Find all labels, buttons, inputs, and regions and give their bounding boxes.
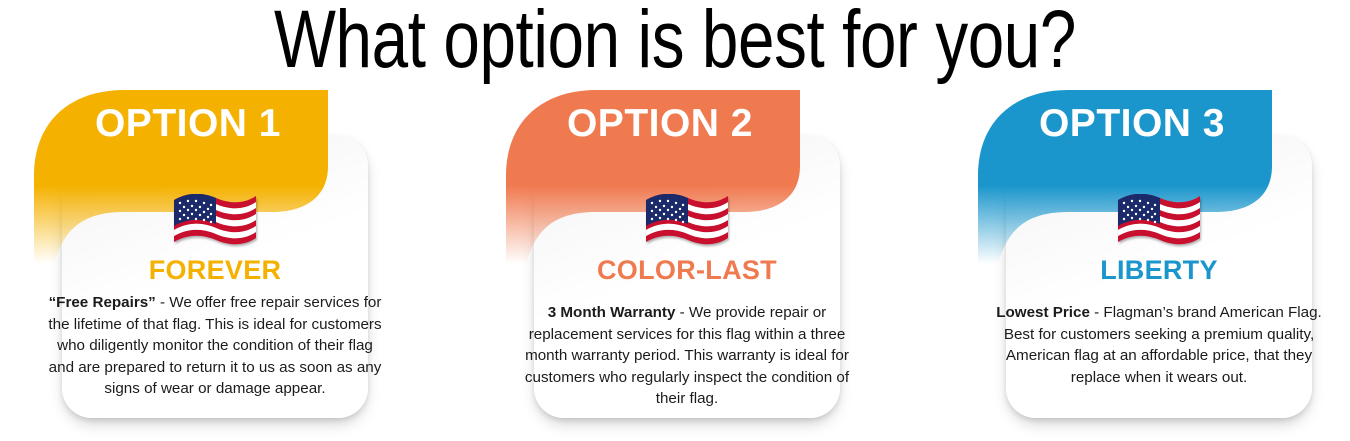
option-description: Lowest Price - Flagman’s brand American … <box>992 302 1326 388</box>
usa-flag-icon <box>1006 194 1312 255</box>
product-name: FOREVER <box>62 254 368 286</box>
options-row: OPTION 1 <box>0 88 1350 441</box>
description-lead: “Free Repairs” <box>49 294 156 311</box>
product-name: COLOR-LAST <box>534 254 840 286</box>
usa-flag-icon <box>534 194 840 255</box>
page-title: What option is best for you? <box>135 0 1215 86</box>
banner-label: OPTION 2 <box>500 102 820 146</box>
option-card-3[interactable]: OPTION 3 <box>972 88 1312 428</box>
option-description: 3 Month Warranty - We provide repair or … <box>520 302 854 410</box>
banner-label: OPTION 3 <box>972 102 1292 146</box>
option-card-1[interactable]: OPTION 1 <box>28 88 368 428</box>
option-card-2[interactable]: OPTION 2 <box>500 88 840 428</box>
product-name: LIBERTY <box>1006 254 1312 286</box>
description-lead: Lowest Price <box>996 304 1090 321</box>
usa-flag-icon <box>62 194 368 255</box>
description-lead: 3 Month Warranty <box>548 304 676 321</box>
banner-label: OPTION 1 <box>28 102 348 146</box>
option-description: “Free Repairs” - We offer free repair se… <box>48 292 382 400</box>
